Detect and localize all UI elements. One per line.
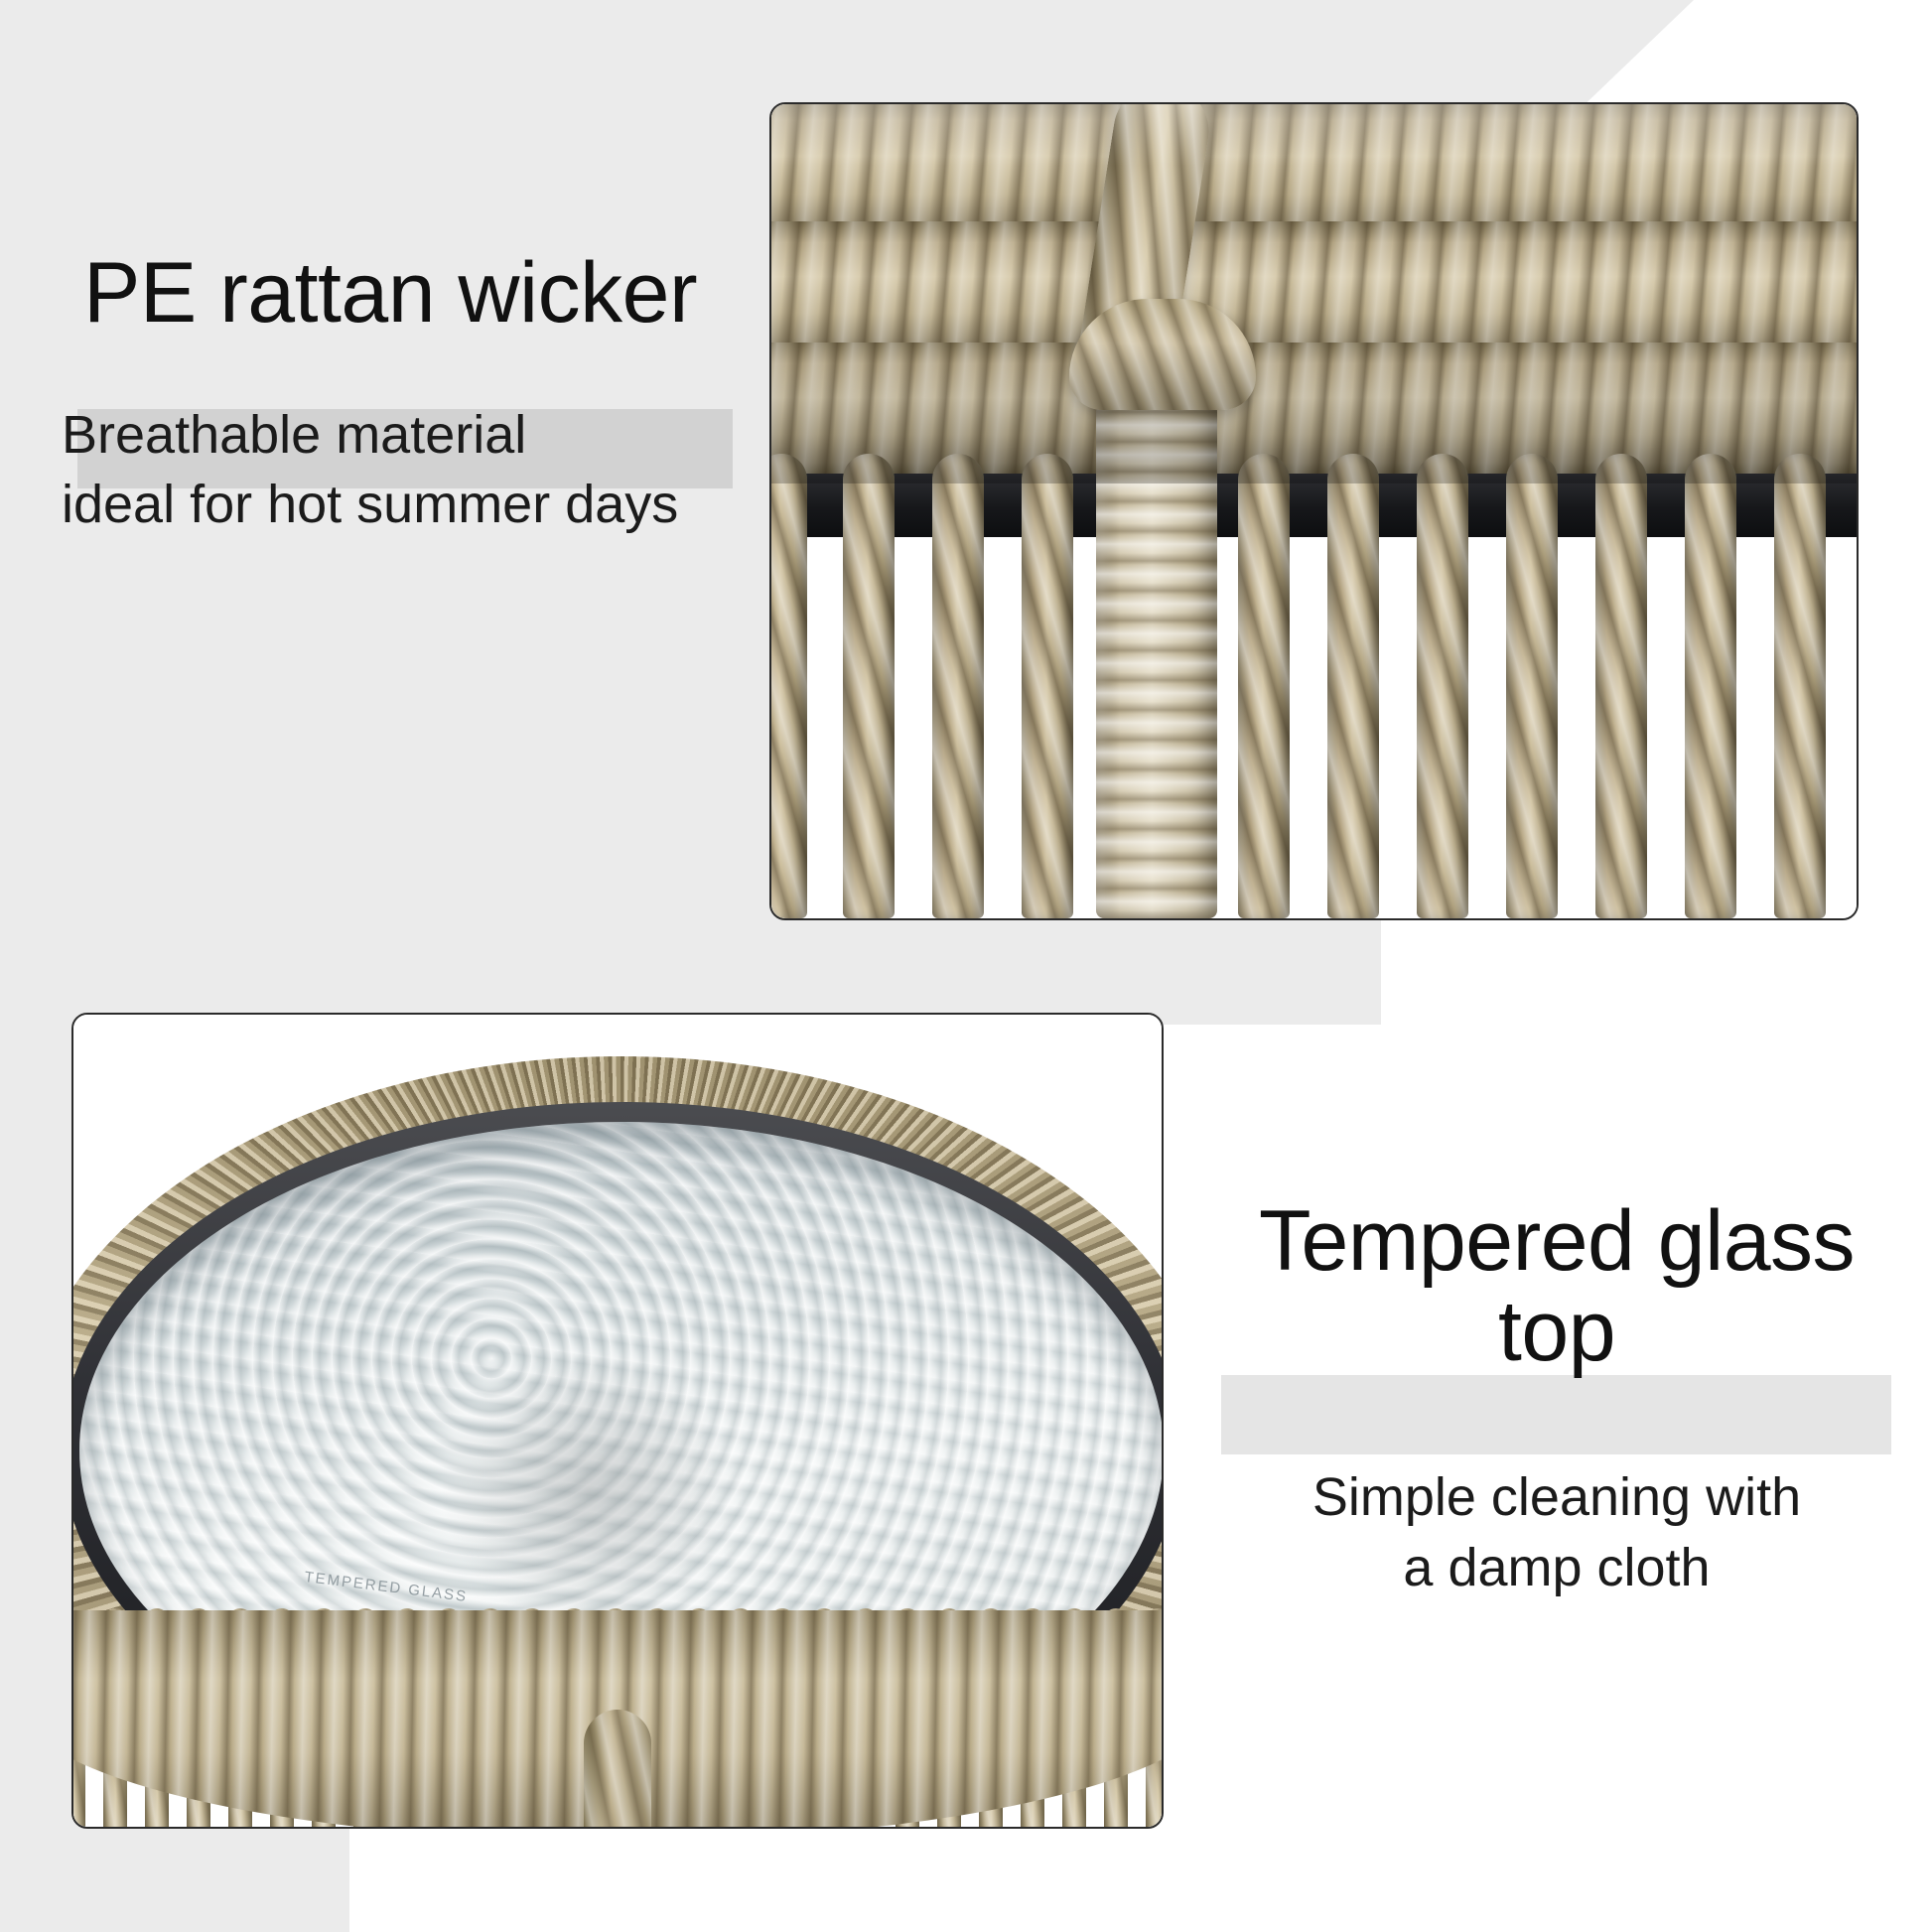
headline-highlight-bar — [1221, 1375, 1891, 1454]
rattan-strand — [769, 454, 807, 918]
rattan-strand — [1417, 454, 1468, 918]
rattan-strand — [1327, 454, 1379, 918]
rattan-wrapped-post — [1096, 352, 1217, 918]
rattan-closeup-illustration — [771, 104, 1857, 918]
rattan-band-row-2 — [769, 221, 1859, 352]
feature-subtext: Simple cleaning with a damp cloth — [1181, 1462, 1932, 1601]
feature-image-pe-rattan-wicker — [769, 102, 1859, 920]
rattan-strand — [1685, 454, 1736, 918]
rattan-band-row-3 — [769, 343, 1859, 474]
rattan-strand — [1238, 454, 1290, 918]
glass-table-illustration: TEMPERED GLASS — [73, 1015, 1162, 1827]
rattan-strand — [1774, 454, 1826, 918]
rattan-strand — [843, 454, 895, 918]
rattan-strand — [1506, 454, 1558, 918]
rattan-center-knot — [584, 1710, 651, 1829]
feature-text-pe-rattan-wicker: PE rattan wicker Breathable material ide… — [0, 248, 733, 540]
feature-headline: PE rattan wicker — [0, 248, 733, 339]
rattan-strand — [932, 454, 984, 918]
feature-text-tempered-glass-top: Tempered glass top Simple cleaning with … — [1181, 1196, 1932, 1602]
rattan-strand — [1022, 454, 1073, 918]
rattan-strand — [1595, 454, 1647, 918]
headline-wrap-top: PE rattan wicker — [0, 248, 733, 339]
feature-subtext: Breathable material ideal for hot summer… — [0, 400, 733, 539]
feature-image-tempered-glass-top: TEMPERED GLASS — [71, 1013, 1164, 1829]
rattan-band-row-1 — [769, 102, 1859, 235]
feature-headline: Tempered glass top — [1181, 1196, 1932, 1377]
headline-wrap-bottom: Tempered glass top — [1181, 1196, 1932, 1377]
